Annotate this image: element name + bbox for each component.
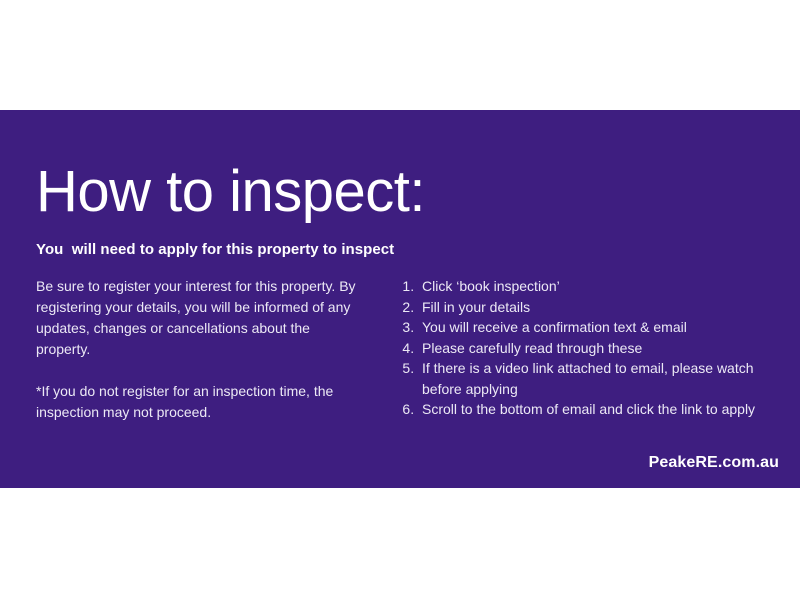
purple-banner-panel: How to inspect: You will need to apply f… <box>0 110 800 488</box>
list-item: You will receive a confirmation text & e… <box>418 317 768 338</box>
paragraph-disclaimer: *If you do not register for an inspectio… <box>36 381 356 423</box>
inspection-steps-list: Click ‘book inspection’ Fill in your det… <box>396 276 768 420</box>
left-text-column: Be sure to register your interest for th… <box>36 276 356 423</box>
list-item: Click ‘book inspection’ <box>418 276 768 297</box>
paragraph-register-interest: Be sure to register your interest for th… <box>36 276 356 360</box>
right-steps-column: Click ‘book inspection’ Fill in your det… <box>396 276 768 420</box>
list-item: Scroll to the bottom of email and click … <box>418 399 768 420</box>
list-item: If there is a video link attached to ema… <box>418 358 768 399</box>
slide-canvas: How to inspect: You will need to apply f… <box>0 0 800 600</box>
list-item: Fill in your details <box>418 297 768 318</box>
page-title: How to inspect: <box>36 162 425 223</box>
subheading: You will need to apply for this property… <box>36 241 394 258</box>
brand-website: PeakeRE.com.au <box>649 454 779 472</box>
list-item: Please carefully read through these <box>418 338 768 359</box>
